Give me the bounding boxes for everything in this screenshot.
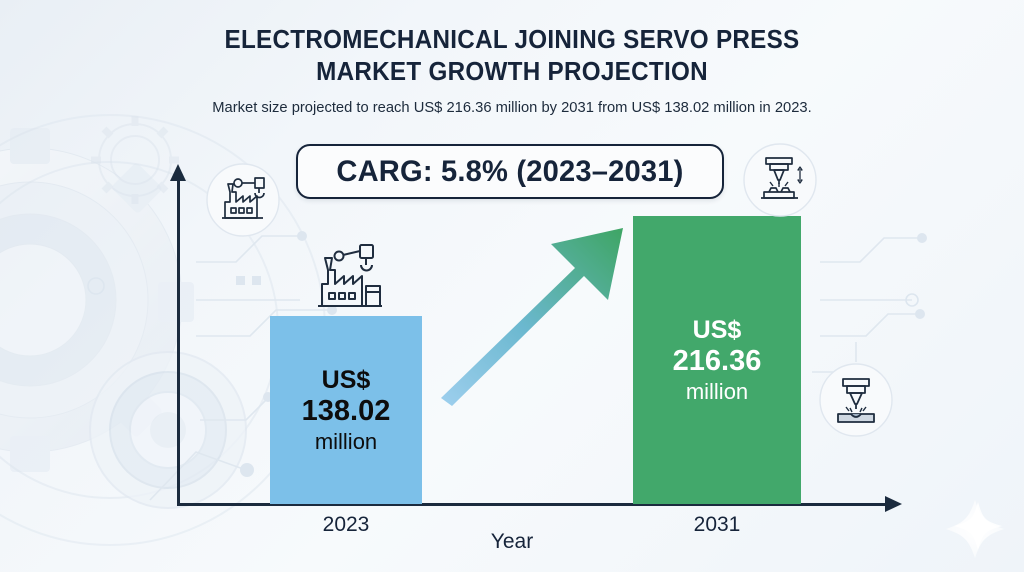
title-line-2: MARKET GROWTH PROJECTION [26, 56, 999, 88]
factory-robot-icon [308, 238, 392, 322]
carg-badge: CARG: 5.8% (2023–2031) [296, 144, 724, 199]
servo-press-icon [742, 142, 818, 218]
bar-2023-unit: million [302, 429, 391, 455]
x-axis-arrowhead-icon [885, 496, 902, 512]
growth-arrow-icon [441, 228, 623, 406]
bar-2023-value: 138.02 [302, 395, 391, 429]
bar-2031-unit: million [673, 379, 762, 405]
bar-2031: US$ 216.36 million [633, 216, 801, 504]
bar-2023-currency: US$ [302, 366, 391, 395]
sparkle-icon [952, 500, 1004, 552]
x-axis-title: Year [432, 530, 592, 554]
infographic-root: ELECTROMECHANICAL JOINING SERVO PRESS MA… [0, 0, 1024, 572]
gear-large-icon [0, 128, 194, 472]
y-axis-arrowhead-icon [170, 164, 186, 181]
y-axis-line [177, 178, 180, 506]
page-title: ELECTROMECHANICAL JOINING SERVO PRESS MA… [0, 24, 1024, 88]
bar-2023-label: US$ 138.02 million [302, 366, 391, 454]
bar-2031-value: 216.36 [673, 345, 762, 379]
gear-medium-icon [91, 116, 179, 204]
laser-weld-icon [818, 362, 894, 438]
concentric-rings-icon [90, 352, 246, 508]
factory-robot-icon [205, 162, 281, 238]
subtitle: Market size projected to reach US$ 216.3… [15, 98, 1008, 118]
x-tick-label-2023: 2023 [266, 513, 426, 537]
x-tick-label-2031: 2031 [637, 513, 797, 537]
bar-2031-currency: US$ [673, 316, 762, 345]
bar-2023: US$ 138.02 million [270, 316, 422, 504]
title-line-1: ELECTROMECHANICAL JOINING SERVO PRESS [26, 24, 999, 56]
bar-2031-label: US$ 216.36 million [673, 316, 762, 404]
carg-badge-label: CARG: 5.8% (2023–2031) [336, 155, 683, 189]
